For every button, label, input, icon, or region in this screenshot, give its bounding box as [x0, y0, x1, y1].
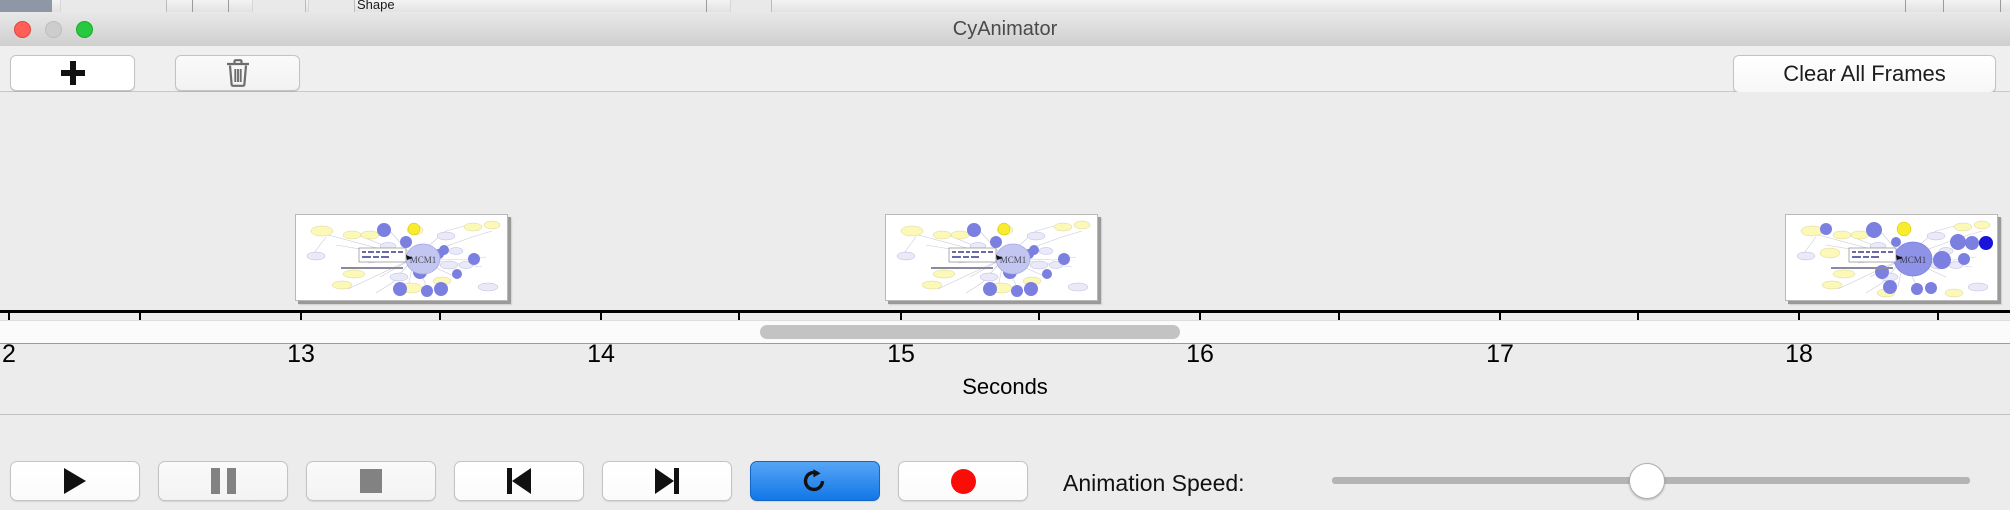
bg-divider: [1943, 0, 1944, 12]
skip-back-icon: [507, 468, 531, 494]
toolbar: [0, 46, 2010, 92]
skip-to-end-button[interactable]: [602, 461, 732, 501]
timeline-tick-label: 13: [287, 340, 315, 369]
bg-divider: [2000, 0, 2001, 12]
bg-chunk: [730, 0, 772, 12]
skip-to-start-button[interactable]: [454, 461, 584, 501]
keyframe-thumbnail-2[interactable]: MCM1: [885, 214, 1098, 301]
network-graph-preview: MCM1: [1786, 215, 1997, 300]
play-button[interactable]: [10, 461, 140, 501]
timeline-tick-label: 15: [887, 340, 915, 369]
animation-speed-slider-thumb[interactable]: [1629, 463, 1665, 499]
svg-text:MCM1: MCM1: [1000, 255, 1027, 265]
cyanimator-window: Shape CyAnimator Clear All Frames: [0, 0, 2010, 510]
title-bar[interactable]: CyAnimator: [0, 12, 2010, 47]
skip-forward-icon: [655, 468, 679, 494]
bg-ghost-label: Shape: [357, 0, 395, 12]
timeline-tick-label: 14: [587, 340, 615, 369]
animation-speed-label: Animation Speed:: [1063, 470, 1245, 497]
delete-frame-button[interactable]: [175, 55, 300, 91]
bg-chunk: [0, 0, 52, 12]
pause-icon: [211, 468, 236, 494]
svg-text:MCM1: MCM1: [1900, 255, 1927, 265]
timeline-panel[interactable]: MCM1: [0, 92, 2010, 415]
timeline-tick-label: 18: [1785, 340, 1813, 369]
stop-button[interactable]: [306, 461, 436, 501]
stop-icon: [360, 469, 382, 493]
timeline-scrollbar-thumb[interactable]: [760, 325, 1180, 339]
loop-icon: [800, 466, 830, 496]
trash-icon: [225, 58, 251, 88]
background-window-strip: Shape: [0, 0, 2010, 12]
svg-text:MCM1: MCM1: [410, 255, 437, 265]
record-button[interactable]: [898, 461, 1028, 501]
network-graph-preview: MCM1: [296, 215, 507, 300]
clear-all-frames-label: Clear All Frames: [1783, 61, 1946, 87]
window-title: CyAnimator: [0, 12, 2010, 46]
pause-button[interactable]: [158, 461, 288, 501]
bg-divider: [228, 0, 229, 12]
bg-chunk: [60, 0, 167, 12]
loop-button[interactable]: [750, 461, 880, 501]
bg-divider: [1905, 0, 1906, 12]
bg-chunk: [308, 0, 355, 12]
timeline-axis-title: Seconds: [0, 374, 2010, 400]
play-icon: [64, 468, 86, 494]
bg-divider: [706, 0, 707, 12]
bg-divider: [192, 0, 193, 12]
keyframe-thumbnail-1[interactable]: MCM1: [295, 214, 508, 301]
bg-chunk: [252, 0, 306, 12]
timeline-tick-label: 16: [1186, 340, 1214, 369]
keyframe-thumbnail-3[interactable]: MCM1: [1785, 214, 1998, 301]
timeline-scrollbar[interactable]: [0, 320, 2010, 344]
timeline-tick-label: 17: [1486, 340, 1514, 369]
clear-all-frames-button[interactable]: Clear All Frames: [1733, 55, 1996, 93]
timeline-tick-label: 2: [2, 340, 16, 369]
network-graph-preview: MCM1: [886, 215, 1097, 300]
plus-icon: [60, 60, 86, 86]
record-icon: [951, 469, 976, 494]
add-frame-button[interactable]: [10, 55, 135, 91]
